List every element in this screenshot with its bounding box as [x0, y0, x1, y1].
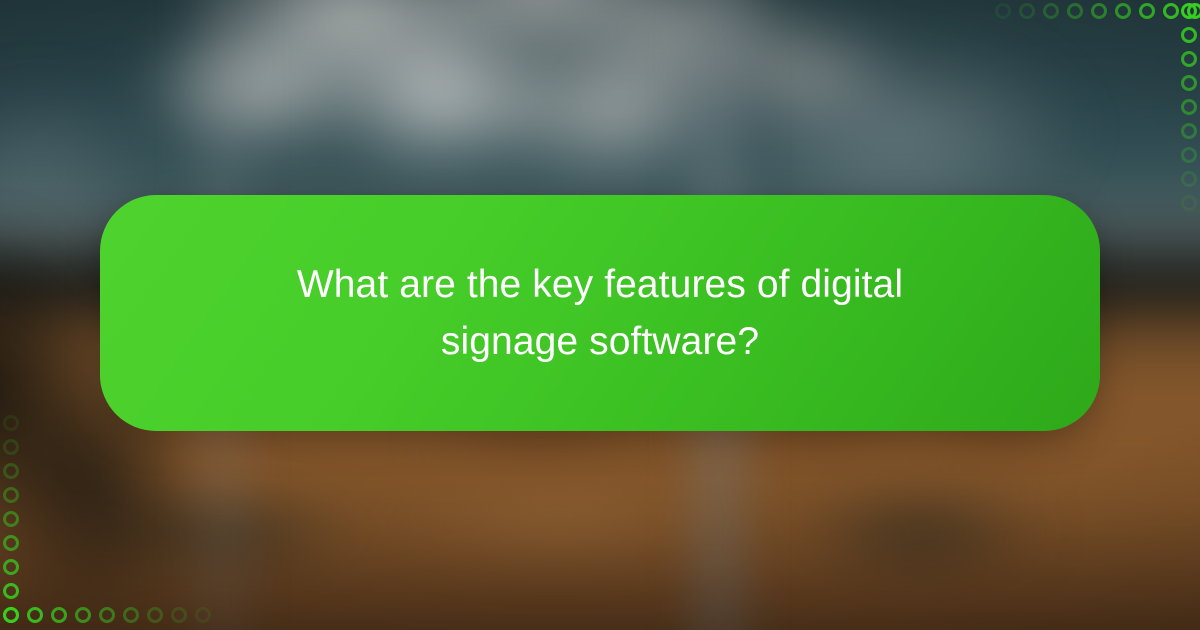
- ring-dot-icon: [1091, 3, 1107, 19]
- ring-dot-icon: [1043, 3, 1059, 19]
- ring-dot-icon: [3, 439, 19, 455]
- ring-dot-icon: [3, 535, 19, 551]
- ring-dot-icon: [1181, 147, 1197, 163]
- ring-dot-icon: [51, 607, 67, 623]
- ring-dot-icon: [27, 607, 43, 623]
- ring-dot-icon: [1181, 3, 1197, 19]
- ring-dot-icon: [995, 3, 1011, 19]
- ring-dot-icon: [3, 463, 19, 479]
- ring-dot-icon: [171, 607, 187, 623]
- social-card-canvas: What are the key features of digital sig…: [0, 0, 1200, 630]
- ring-dot-icon: [1067, 3, 1083, 19]
- ring-dot-icon: [1181, 195, 1197, 211]
- ring-dot-icon: [123, 607, 139, 623]
- ring-dot-icon: [3, 559, 19, 575]
- ring-dot-icon: [1181, 27, 1197, 43]
- ring-dot-icon: [3, 511, 19, 527]
- ring-dot-icon: [99, 607, 115, 623]
- ring-dot-icon: [3, 487, 19, 503]
- question-card: What are the key features of digital sig…: [100, 195, 1100, 431]
- ring-dot-icon: [1139, 3, 1155, 19]
- ring-dot-icon: [1181, 99, 1197, 115]
- ring-dot-icon: [75, 607, 91, 623]
- ring-dot-icon: [1181, 123, 1197, 139]
- ring-dot-icon: [1181, 51, 1197, 67]
- question-title: What are the key features of digital sig…: [260, 256, 940, 370]
- ring-dot-icon: [1181, 75, 1197, 91]
- ring-dot-icon: [3, 583, 19, 599]
- ring-dot-icon: [3, 607, 19, 623]
- ring-dot-icon: [1019, 3, 1035, 19]
- ring-dot-icon: [1115, 3, 1131, 19]
- ring-dot-icon: [147, 607, 163, 623]
- ring-dot-icon: [195, 607, 211, 623]
- ring-dot-icon: [1163, 3, 1179, 19]
- ring-dot-icon: [1181, 171, 1197, 187]
- ring-dot-icon: [3, 415, 19, 431]
